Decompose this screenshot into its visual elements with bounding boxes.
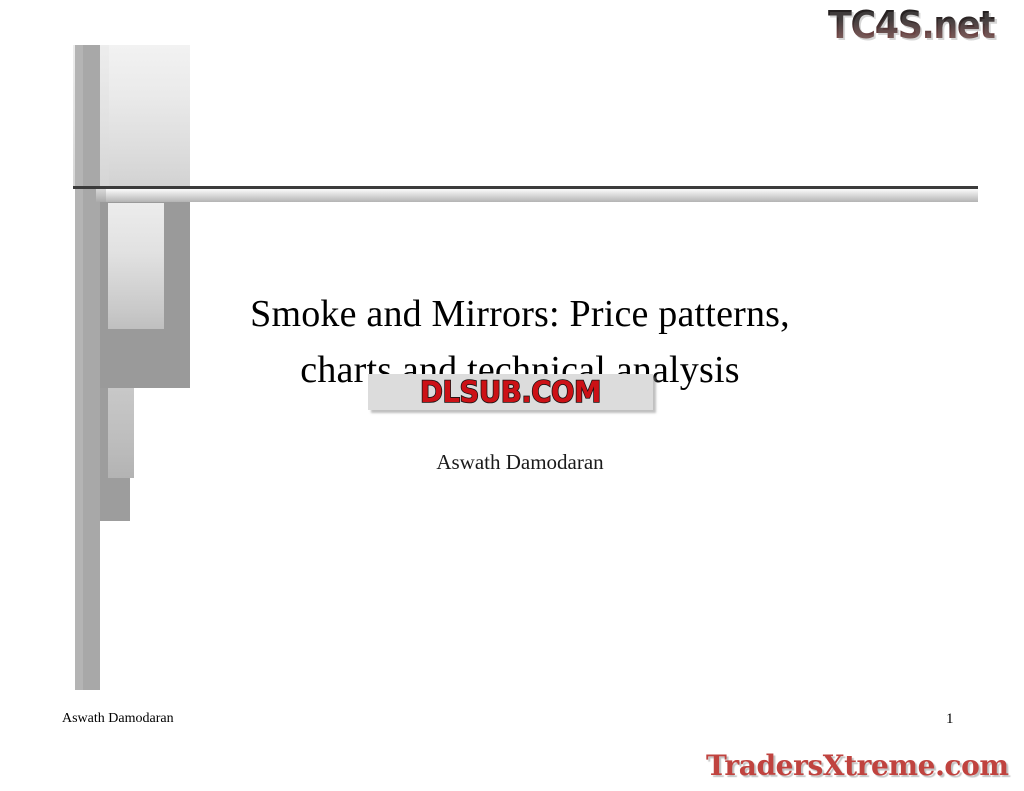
watermark-tc4s-text: TC4S.net [828, 3, 995, 47]
decoration-vertical-strip-highlight [75, 45, 83, 690]
horizontal-rule-line [73, 186, 978, 189]
decoration-column-medium-inset [108, 388, 134, 478]
horizontal-rule-gradient-bar [96, 189, 978, 202]
slide-subtitle-author: Aswath Damodaran [150, 450, 890, 475]
footer-page-number: 1 [946, 711, 954, 728]
footer-author: Aswath Damodaran [62, 711, 174, 727]
slide-title-line-1: Smoke and Mirrors: Price patterns, [150, 286, 890, 342]
presentation-slide: Smoke and Mirrors: Price patterns, chart… [0, 0, 1024, 791]
horizontal-rule-left-cap [96, 189, 106, 202]
watermark-dlsub-text: DLSUB.COM [375, 374, 646, 410]
watermark-tradersxtreme-text: TradersXtreme.com [706, 749, 1009, 782]
